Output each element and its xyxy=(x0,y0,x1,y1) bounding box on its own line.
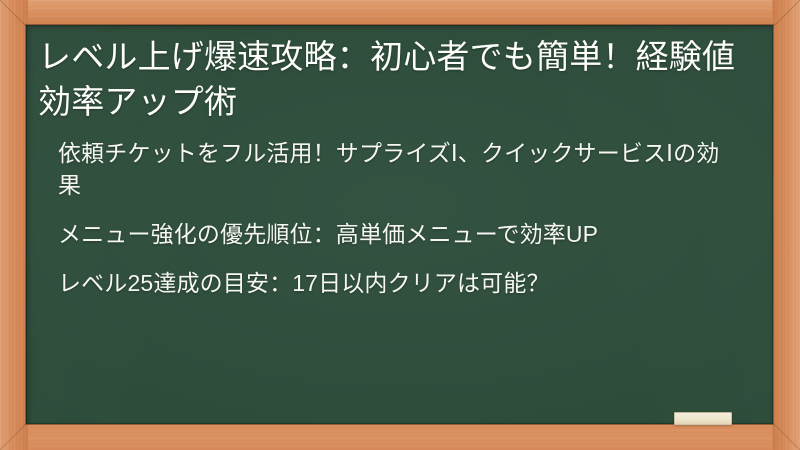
chalkboard-title-card: レベル上げ爆速攻略：初心者でも簡単！経験値効率アップ術 依頼チケットをフル活用！… xyxy=(0,0,800,450)
frame-rail-left xyxy=(0,0,28,450)
list-item[interactable]: 依頼チケットをフル活用！サプライズⅠ、クイックサービスⅠの効果 xyxy=(58,137,738,202)
chalk-eraser[interactable] xyxy=(674,412,732,425)
frame-rail-top xyxy=(0,0,800,26)
frame-rail-bottom xyxy=(0,422,800,450)
list-item[interactable]: レベル25達成の目安：17日以内クリアは可能？ xyxy=(58,267,738,300)
chalkboard-content: レベル上げ爆速攻略：初心者でも簡単！経験値効率アップ術 依頼チケットをフル活用！… xyxy=(26,25,773,424)
frame-rail-right xyxy=(772,0,800,450)
list-item[interactable]: メニュー強化の優先順位：高単価メニューで効率UP xyxy=(58,218,738,251)
chalkboard-surface: レベル上げ爆速攻略：初心者でも簡単！経験値効率アップ術 依頼チケットをフル活用！… xyxy=(26,25,773,424)
table-of-contents: 依頼チケットをフル活用！サプライズⅠ、クイックサービスⅠの効果 メニュー強化の優… xyxy=(38,137,751,300)
page-title: レベル上げ爆速攻略：初心者でも簡単！経験値効率アップ術 xyxy=(38,35,738,125)
